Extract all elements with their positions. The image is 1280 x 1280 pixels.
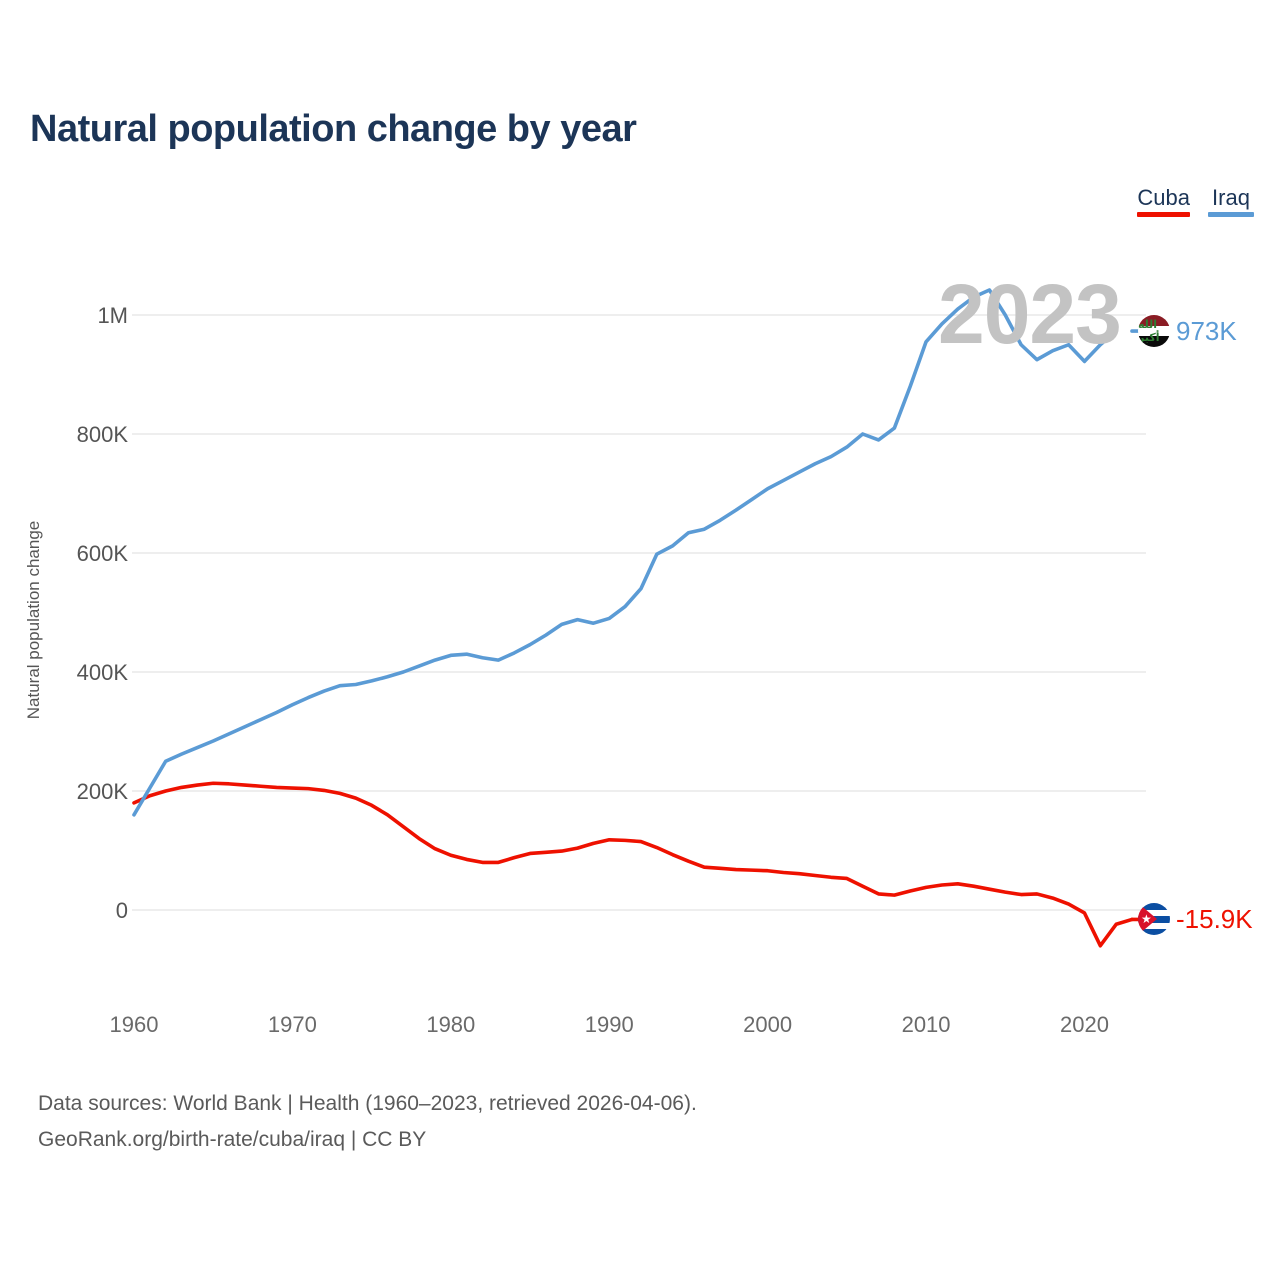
endcap-value-cuba: -15.9K <box>1176 904 1253 935</box>
x-tick-label: 2000 <box>708 1012 828 1038</box>
y-tick-label: 0 <box>18 898 128 924</box>
year-watermark: 2023 <box>938 266 1121 363</box>
x-tick-label: 1960 <box>74 1012 194 1038</box>
footer-line-2: GeoRank.org/birth-rate/cuba/iraq | CC BY <box>38 1122 697 1158</box>
endcap-iraq[interactable]: الله أكبر 973K <box>1138 315 1237 347</box>
x-tick-label: 2010 <box>866 1012 986 1038</box>
y-tick-label: 600K <box>18 541 128 567</box>
x-tick-label: 2020 <box>1024 1012 1144 1038</box>
endcap-cuba[interactable]: ★ -15.9K <box>1138 903 1253 935</box>
y-tick-label: 1M <box>18 303 128 329</box>
chart-container: Natural population change by year Cuba I… <box>0 0 1280 1280</box>
y-tick-label: 400K <box>18 660 128 686</box>
x-tick-label: 1970 <box>232 1012 352 1038</box>
footer-attribution: Data sources: World Bank | Health (1960–… <box>38 1086 697 1158</box>
y-tick-label: 200K <box>18 779 128 805</box>
endcap-value-iraq: 973K <box>1176 316 1237 347</box>
footer-line-1: Data sources: World Bank | Health (1960–… <box>38 1086 697 1122</box>
cuba-flag-icon: ★ <box>1138 903 1170 935</box>
x-tick-label: 1990 <box>549 1012 669 1038</box>
iraq-flag-icon: الله أكبر <box>1138 315 1170 347</box>
x-tick-label: 1980 <box>391 1012 511 1038</box>
y-tick-label: 800K <box>18 422 128 448</box>
